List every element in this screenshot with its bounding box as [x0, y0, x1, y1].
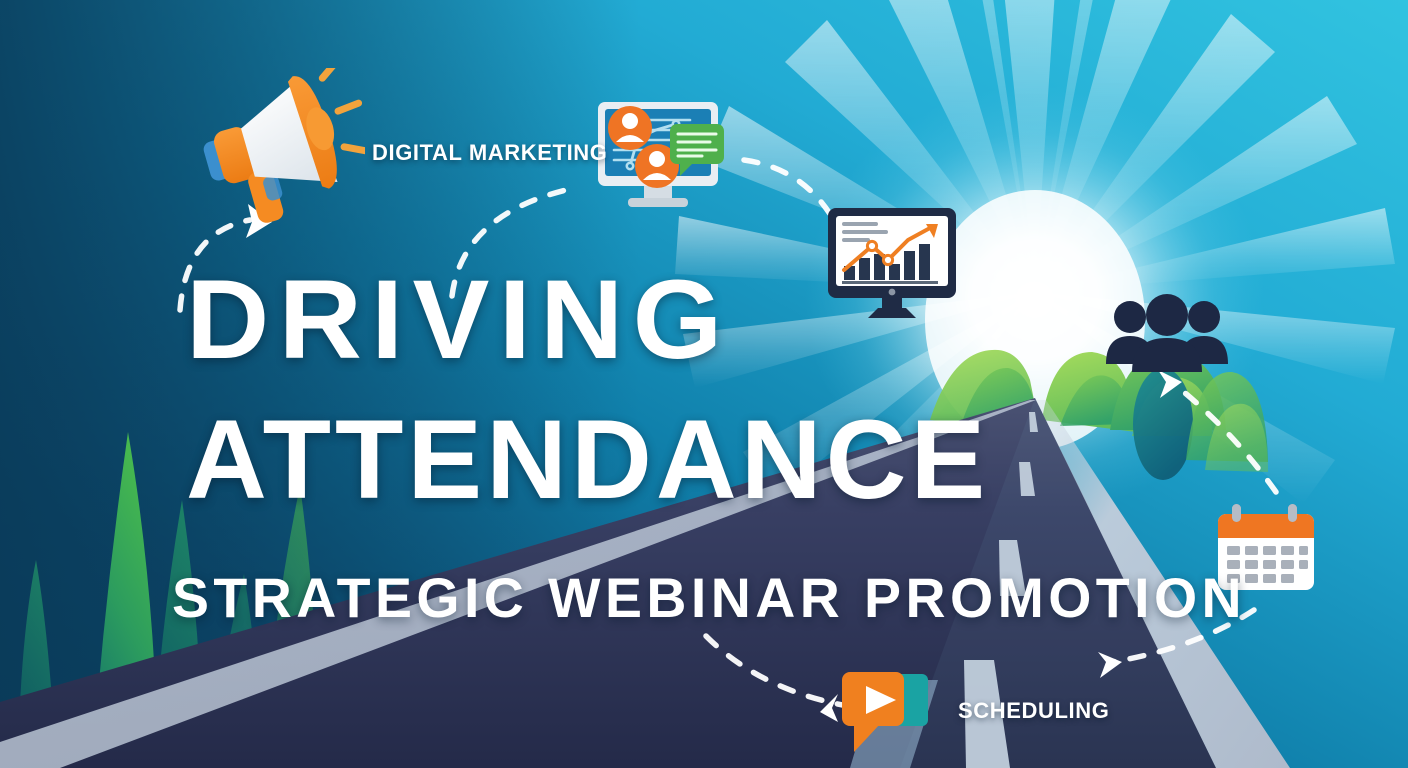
analytics-monitor-icon: [822, 204, 962, 324]
arrow-to-scheduling-path: [706, 636, 848, 706]
page-subtitle: STRATEGIC WEBINAR PROMOTION: [172, 570, 1246, 626]
people-group-icon: [1102, 294, 1232, 376]
webinar-monitor-icon: [584, 94, 744, 224]
arrowhead-calendar: [1098, 652, 1122, 678]
poster-canvas: DRIVING ATTENDANCE STRATEGIC WEBINAR PRO…: [0, 0, 1408, 768]
megaphone-icon: [200, 68, 365, 228]
page-title-line1: DRIVING: [186, 264, 732, 376]
page-title-line2: ATTENDANCE: [186, 404, 989, 516]
label-scheduling: SCHEDULING: [958, 698, 1109, 724]
video-play-bubble-icon: [828, 662, 958, 768]
label-digital-marketing: DIGITAL MARKETING: [372, 140, 608, 166]
arrow-calendar-to-people-path: [1174, 384, 1276, 492]
arrow-webinar-to-analytics-path: [744, 160, 830, 214]
